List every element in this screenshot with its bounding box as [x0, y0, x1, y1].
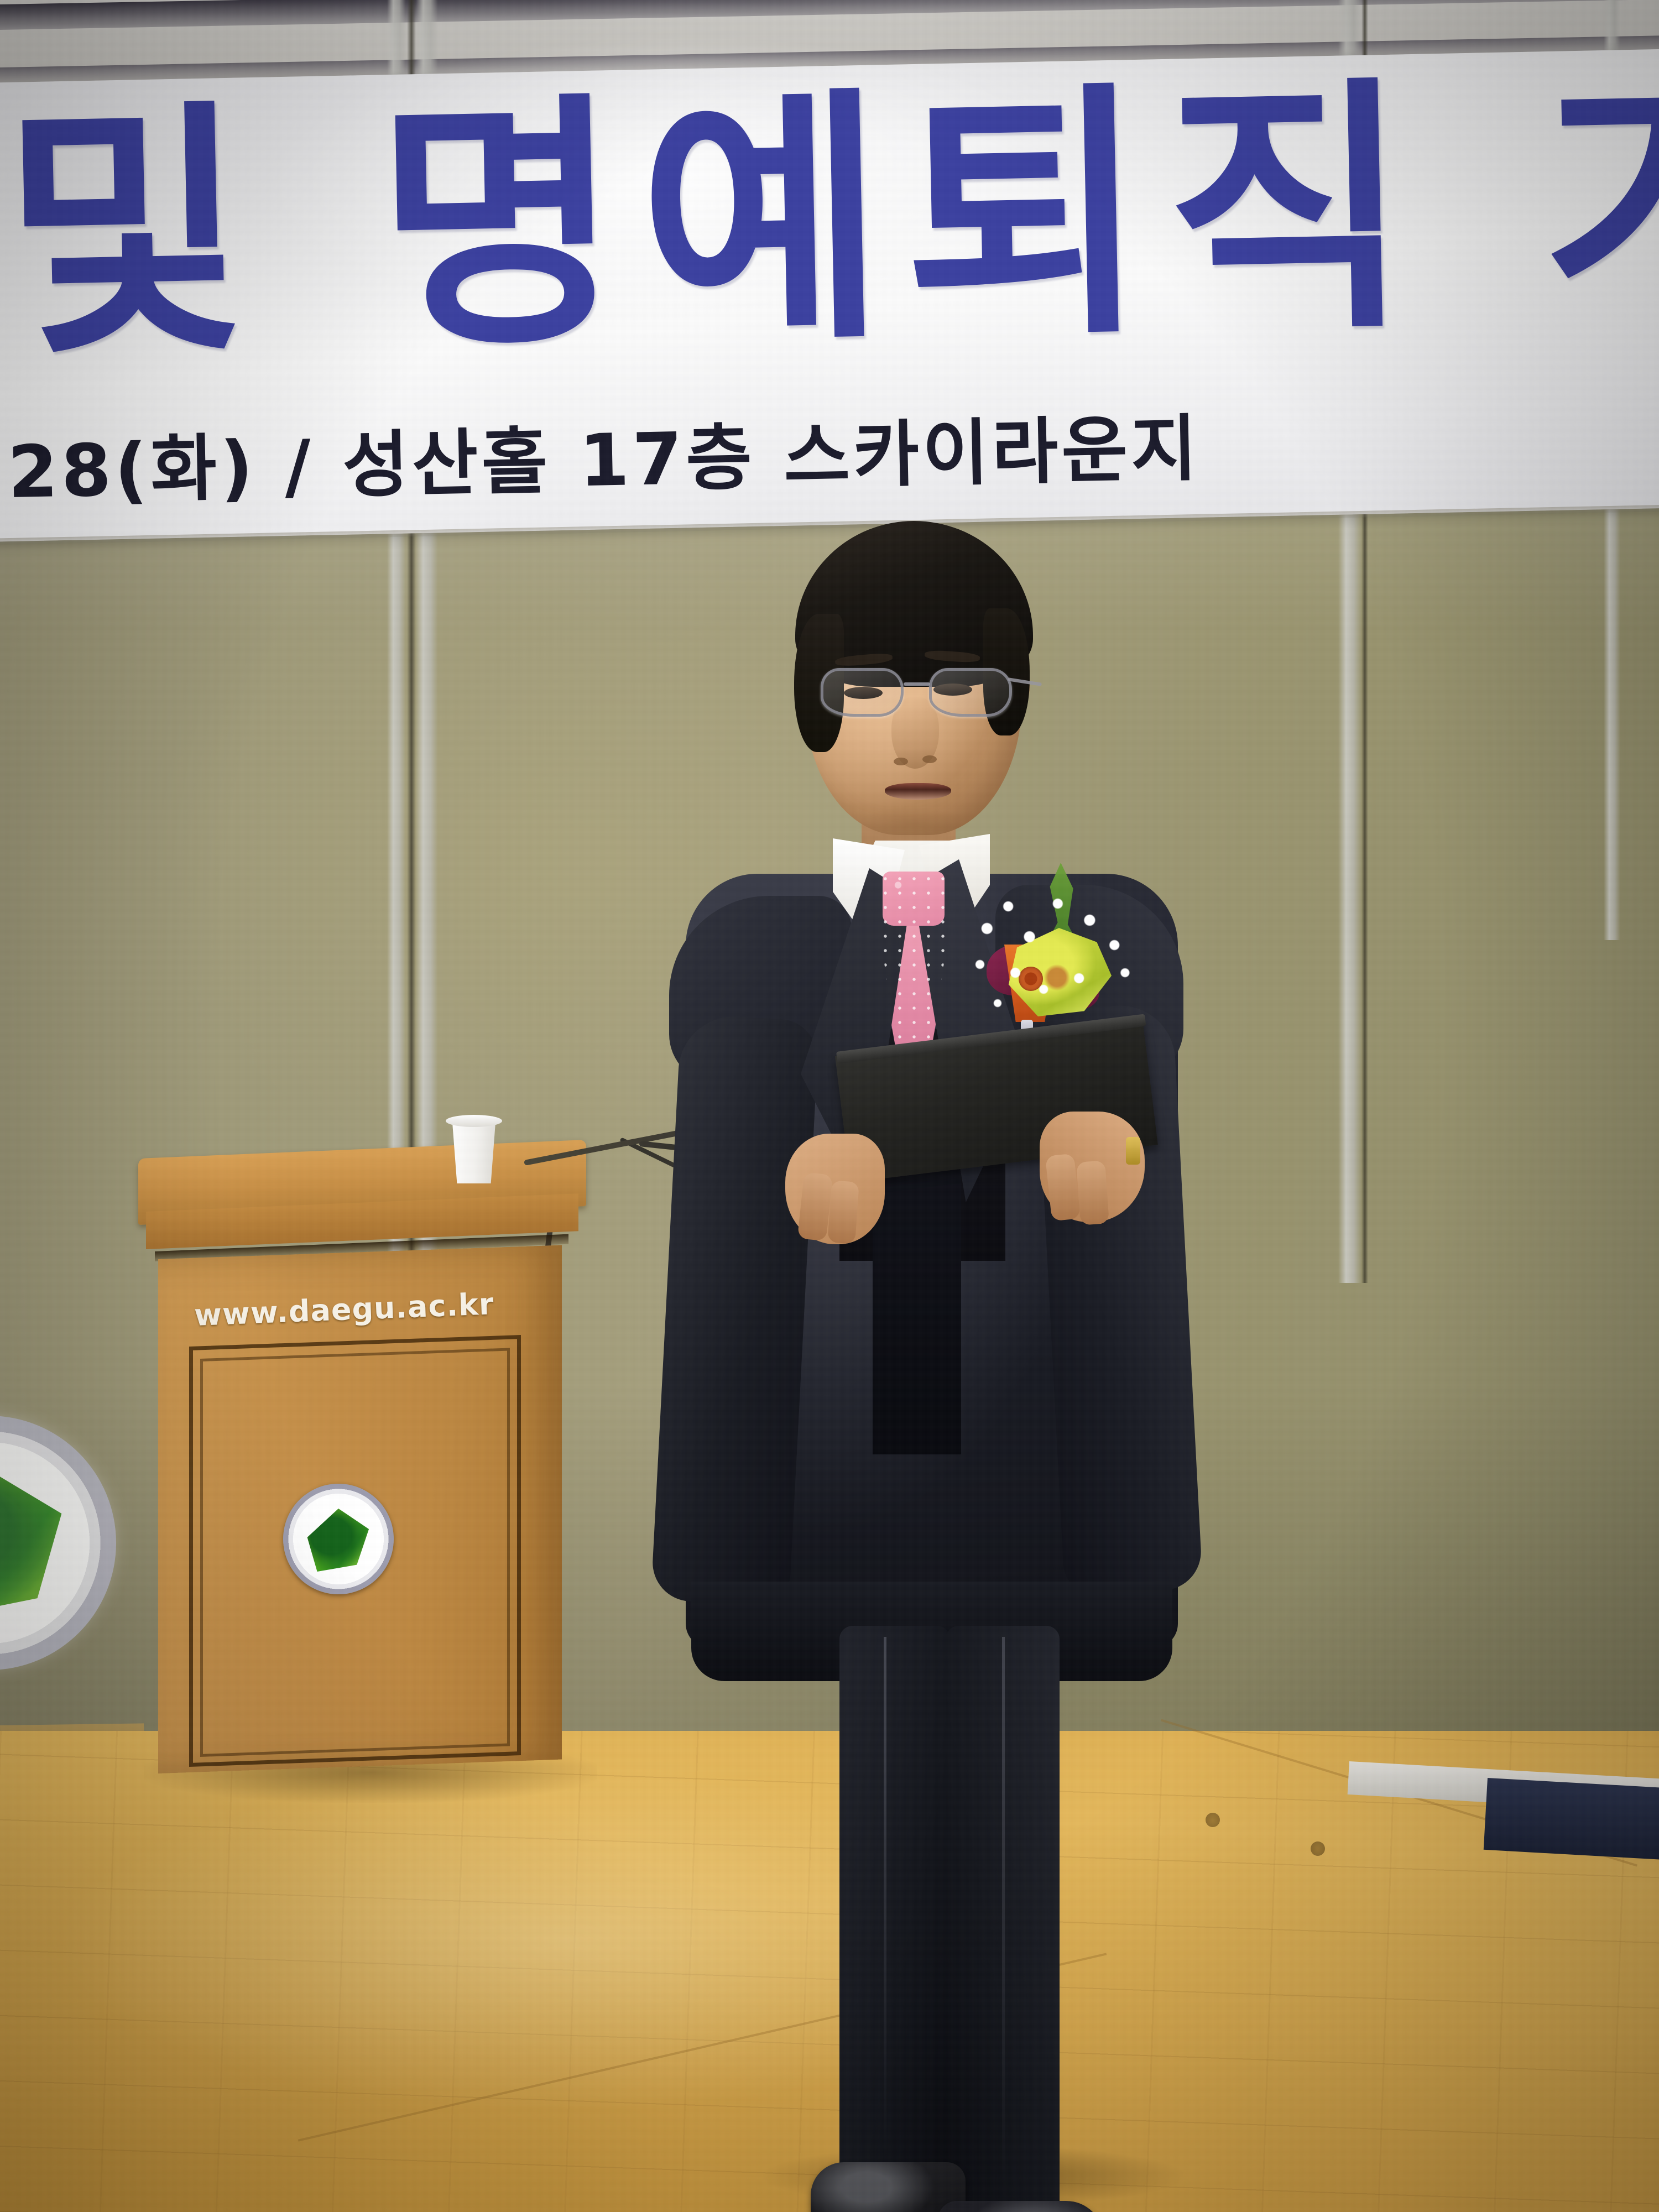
- trouser-crease-left: [884, 1637, 886, 2168]
- finger-left-2: [827, 1180, 859, 1244]
- trouser-leg-left: [839, 1626, 950, 2195]
- paper-cup-rim: [446, 1115, 502, 1127]
- podium: www.daegu.ac.kr: [138, 1159, 586, 1772]
- banner-subtitle: 28(화) / 성산홀 17층 스카이라운지: [7, 413, 1201, 508]
- event-banner: 및 명예퇴직 기 28(화) / 성산홀 17층 스카이라운지: [0, 48, 1659, 541]
- medal-ribbon-emblem: [1019, 967, 1043, 991]
- chin-shadow: [858, 807, 969, 839]
- eyeglass-lens-left: [821, 668, 904, 717]
- honoree-figure: [653, 531, 1217, 2151]
- eyeglass-lens-right: [929, 668, 1012, 717]
- mouth: [885, 783, 951, 800]
- nostril-left: [894, 758, 908, 765]
- trouser-crease-right: [1002, 1637, 1005, 2184]
- eyeglass-bridge: [904, 682, 930, 686]
- jacket-opening: [873, 1167, 961, 1454]
- eyeglasses-icon: [821, 668, 1014, 721]
- nostril-right: [922, 755, 937, 763]
- finger-right-2: [1076, 1160, 1109, 1225]
- banner-title: 및 명예퇴직 기: [1, 69, 1659, 370]
- dress-shoe-left: [811, 2162, 966, 2212]
- floor-stud-2: [1311, 1841, 1325, 1856]
- paper-cup: [449, 1118, 499, 1183]
- podium-university-seal: [283, 1484, 394, 1594]
- floor-carpet: [1484, 1778, 1659, 1862]
- ceremony-photo: 및 명예퇴직 기 28(화) / 성산홀 17층 스카이라운지 www.daeg…: [0, 0, 1659, 2212]
- finger-ring: [1126, 1137, 1140, 1165]
